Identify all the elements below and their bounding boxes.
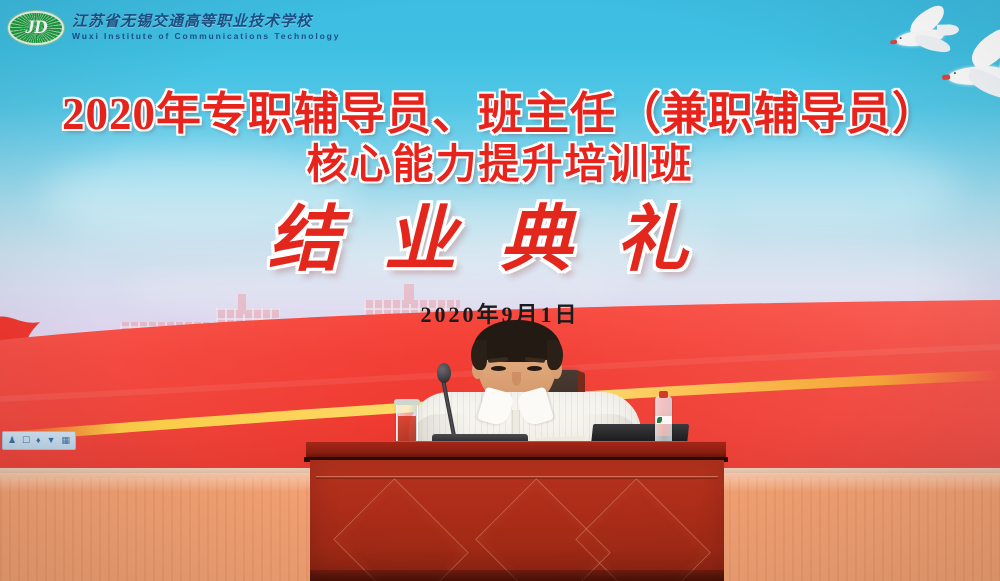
banner-title: 2020年专职辅导员、班主任（兼职辅导员） 核心能力提升培训班 bbox=[0, 88, 1000, 188]
panel-icon: ▦ bbox=[61, 436, 70, 445]
school-logo-icon: JD bbox=[8, 8, 64, 48]
institution-identity: JD 江苏省无锡交通高等职业技术学校 Wuxi Institute of Com… bbox=[8, 6, 388, 50]
institution-name-en: Wuxi Institute of Communications Technol… bbox=[72, 31, 340, 42]
banner-headline-calligraphy: 结业典礼 bbox=[0, 196, 1000, 284]
logo-initials: JD bbox=[20, 17, 52, 39]
banner-title-line-1: 2020年专职辅导员、班主任（兼职辅导员） bbox=[0, 88, 1000, 140]
hair-side-right bbox=[547, 340, 563, 370]
wall-safety-plaque: ♟ ☐ ♦ ▼ ▦ bbox=[2, 431, 76, 450]
eye-right bbox=[527, 366, 542, 371]
bottle-leaf-icon bbox=[657, 417, 662, 423]
hydrant-icon: ♦ bbox=[36, 436, 41, 445]
eye-left bbox=[491, 366, 506, 371]
exit-icon: ☐ bbox=[22, 436, 30, 445]
institution-name-cn: 江苏省无锡交通高等职业技术学校 bbox=[72, 14, 340, 31]
nose bbox=[512, 372, 521, 386]
hair-side-left bbox=[471, 340, 487, 370]
sprinkler-icon: ▼ bbox=[47, 436, 56, 445]
microphone-head bbox=[437, 363, 451, 383]
podium-moulding bbox=[316, 476, 718, 479]
person-icon: ♟ bbox=[8, 436, 16, 445]
podium-base-shadow bbox=[310, 570, 724, 581]
bottle-cap bbox=[659, 391, 668, 398]
tea-liquid bbox=[398, 416, 416, 443]
banner-title-line-2: 核心能力提升培训班 bbox=[0, 140, 1000, 188]
tea-glass-lid bbox=[394, 399, 420, 405]
event-photograph: ♟ ☐ ♦ ▼ ▦ JD 江苏省无锡交通高等职业技术学校 Wuxi Instit… bbox=[0, 0, 1000, 581]
